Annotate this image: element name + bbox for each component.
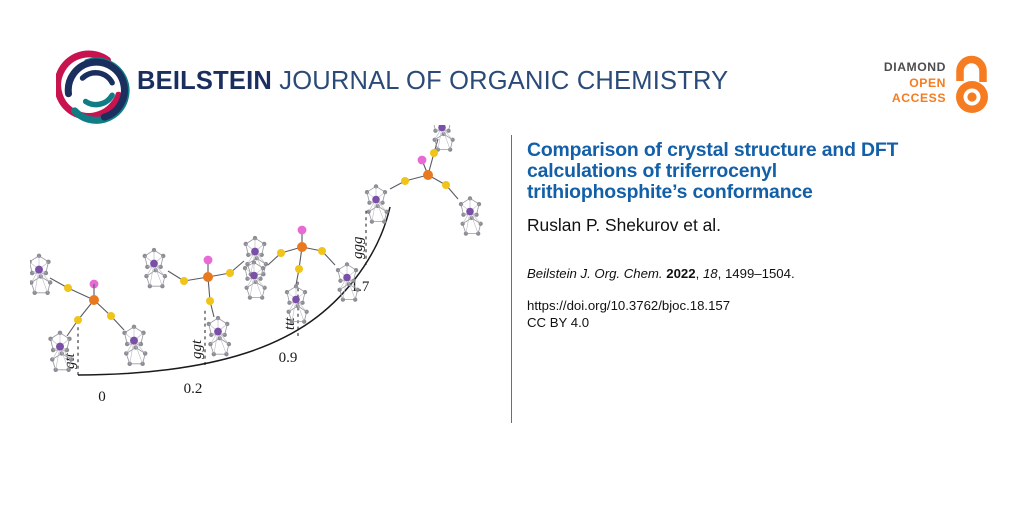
- energy-value-0: 0: [98, 389, 106, 405]
- citation-line: Beilstein J. Org. Chem. 2022, 18, 1499–1…: [527, 265, 947, 282]
- license-label: CC BY 4.0: [527, 314, 947, 332]
- wordmark-journal-of-organic-chemistry: JOURNAL OF ORGANIC CHEMISTRY: [272, 67, 728, 95]
- diamond-open-access-badge: DIAMOND OPEN ACCESS: [866, 58, 994, 120]
- molecule-structure-gtt: [30, 254, 147, 372]
- molecule-structure-ttt: [243, 226, 360, 324]
- badge-line-open: OPEN: [884, 76, 946, 92]
- open-access-text: DIAMOND OPEN ACCESS: [884, 60, 946, 107]
- citation-block: Beilstein J. Org. Chem. 2022, 18, 1499–1…: [527, 265, 947, 332]
- graphical-abstract-page: BEILSTEIN JOURNAL OF ORGANIC CHEMISTRY D…: [0, 0, 1024, 512]
- conformer-droplines: [78, 209, 366, 375]
- energy-value-0-2: 0.2: [184, 381, 203, 397]
- energy-curve: [78, 207, 390, 375]
- conformer-label-ttt: ttt: [282, 317, 298, 330]
- article-title: Comparison of crystal structure and DFT …: [527, 140, 939, 204]
- citation-pages: 1499–1504.: [725, 266, 795, 281]
- journal-wordmark: BEILSTEIN JOURNAL OF ORGANIC CHEMISTRY: [137, 69, 728, 95]
- open-lock-icon: [950, 55, 994, 117]
- citation-journal: Beilstein J. Org. Chem.: [527, 266, 663, 281]
- conformer-label-ggt: ggt: [189, 339, 205, 359]
- badge-line-access: ACCESS: [884, 91, 946, 107]
- graphical-abstract-figure: gtt ggt ttt ggg 0 0.2 0.9 1.7: [30, 125, 500, 430]
- article-text-panel: Comparison of crystal structure and DFT …: [527, 140, 947, 332]
- molecule-structure-ggg: [365, 125, 483, 236]
- citation-volume: 18: [703, 266, 718, 281]
- article-authors: Ruslan P. Shekurov et al.: [527, 215, 947, 235]
- highlight-atom: [418, 156, 427, 165]
- highlight-atom: [204, 256, 213, 265]
- citation-year: 2022: [666, 266, 695, 281]
- wordmark-beilstein: BEILSTEIN: [137, 67, 272, 95]
- badge-line-diamond: DIAMOND: [884, 60, 946, 76]
- conformer-label-ggg: ggg: [350, 236, 366, 259]
- highlight-atom: [298, 226, 307, 235]
- doi-link[interactable]: https://doi.org/10.3762/bjoc.18.157: [527, 297, 947, 315]
- beilstein-swirl-logo: [56, 50, 134, 128]
- panel-divider: [511, 135, 512, 423]
- energy-value-0-9: 0.9: [279, 350, 298, 366]
- journal-masthead: BEILSTEIN JOURNAL OF ORGANIC CHEMISTRY D…: [0, 0, 1024, 130]
